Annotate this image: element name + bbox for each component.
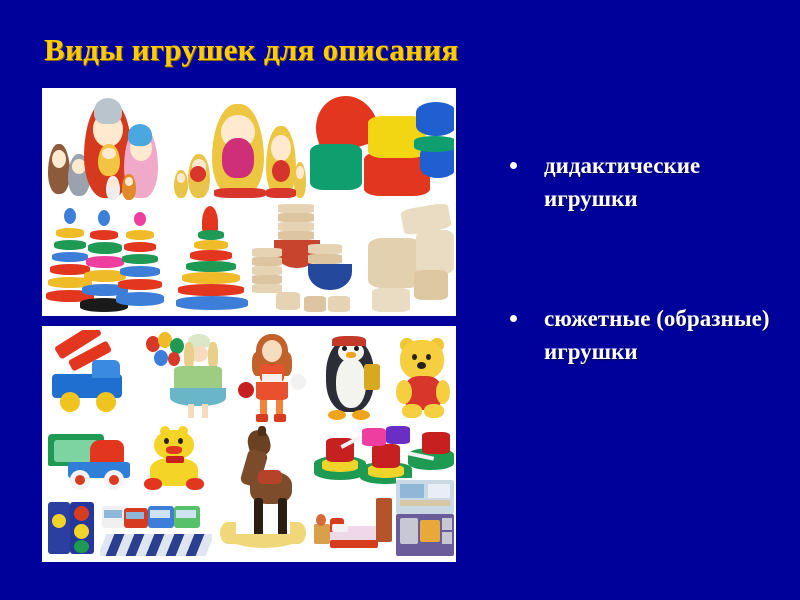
- slide-canvas: Виды игрушек для описания: [0, 0, 800, 600]
- didactic-toys-panel: [42, 88, 456, 316]
- bullet-dot-icon: [510, 315, 517, 322]
- photo-matryoshka-dolls-grey-scarf: [46, 92, 166, 202]
- bullet-label-story: сюжетные (образные) игрушки: [544, 306, 770, 364]
- bullet-label-didactic: дидактические игрушки: [544, 153, 700, 211]
- photo-dollhouse-bedroom-furniture: [312, 490, 394, 560]
- photo-winnie-the-pooh-plush-bear: [390, 330, 454, 424]
- bullet-list: дидактические игрушки сюжетные (образные…: [496, 150, 788, 369]
- bullet-dot-icon: [510, 162, 517, 169]
- photo-red-blue-fire-truck: [46, 330, 138, 424]
- photo-plastic-nesting-barrels: [308, 92, 454, 202]
- picture-panels: [42, 88, 456, 562]
- photo-matryoshka-dolls-yellow-floral: [168, 92, 306, 202]
- photo-wooden-stacking-pyramids: [46, 204, 172, 314]
- bullet-item-didactic: дидактические игрушки: [496, 150, 788, 215]
- bullet-item-story: сюжетные (образные) игрушки: [496, 303, 788, 368]
- photo-doll-green-dress-balloons: [140, 330, 226, 424]
- photo-red-haired-cheerleader-doll: [228, 330, 312, 424]
- photo-toy-buses-and-crosswalk: [100, 498, 212, 560]
- photo-toy-kitchen: [396, 478, 454, 560]
- photo-wooden-ring-pyramid: [174, 204, 250, 314]
- story-toys-panel: [42, 326, 456, 562]
- photo-plush-penguin: [314, 330, 388, 424]
- photo-rocking-horse: [214, 426, 310, 558]
- photo-unpainted-wooden-discs: [252, 204, 364, 314]
- photo-yellow-plush-duck: [140, 426, 212, 496]
- page-title: Виды игрушек для описания: [44, 32, 744, 68]
- photo-green-dump-truck: [46, 426, 138, 496]
- photo-unpainted-wooden-boxes: [366, 204, 454, 314]
- photo-traffic-light-toy: [46, 498, 98, 560]
